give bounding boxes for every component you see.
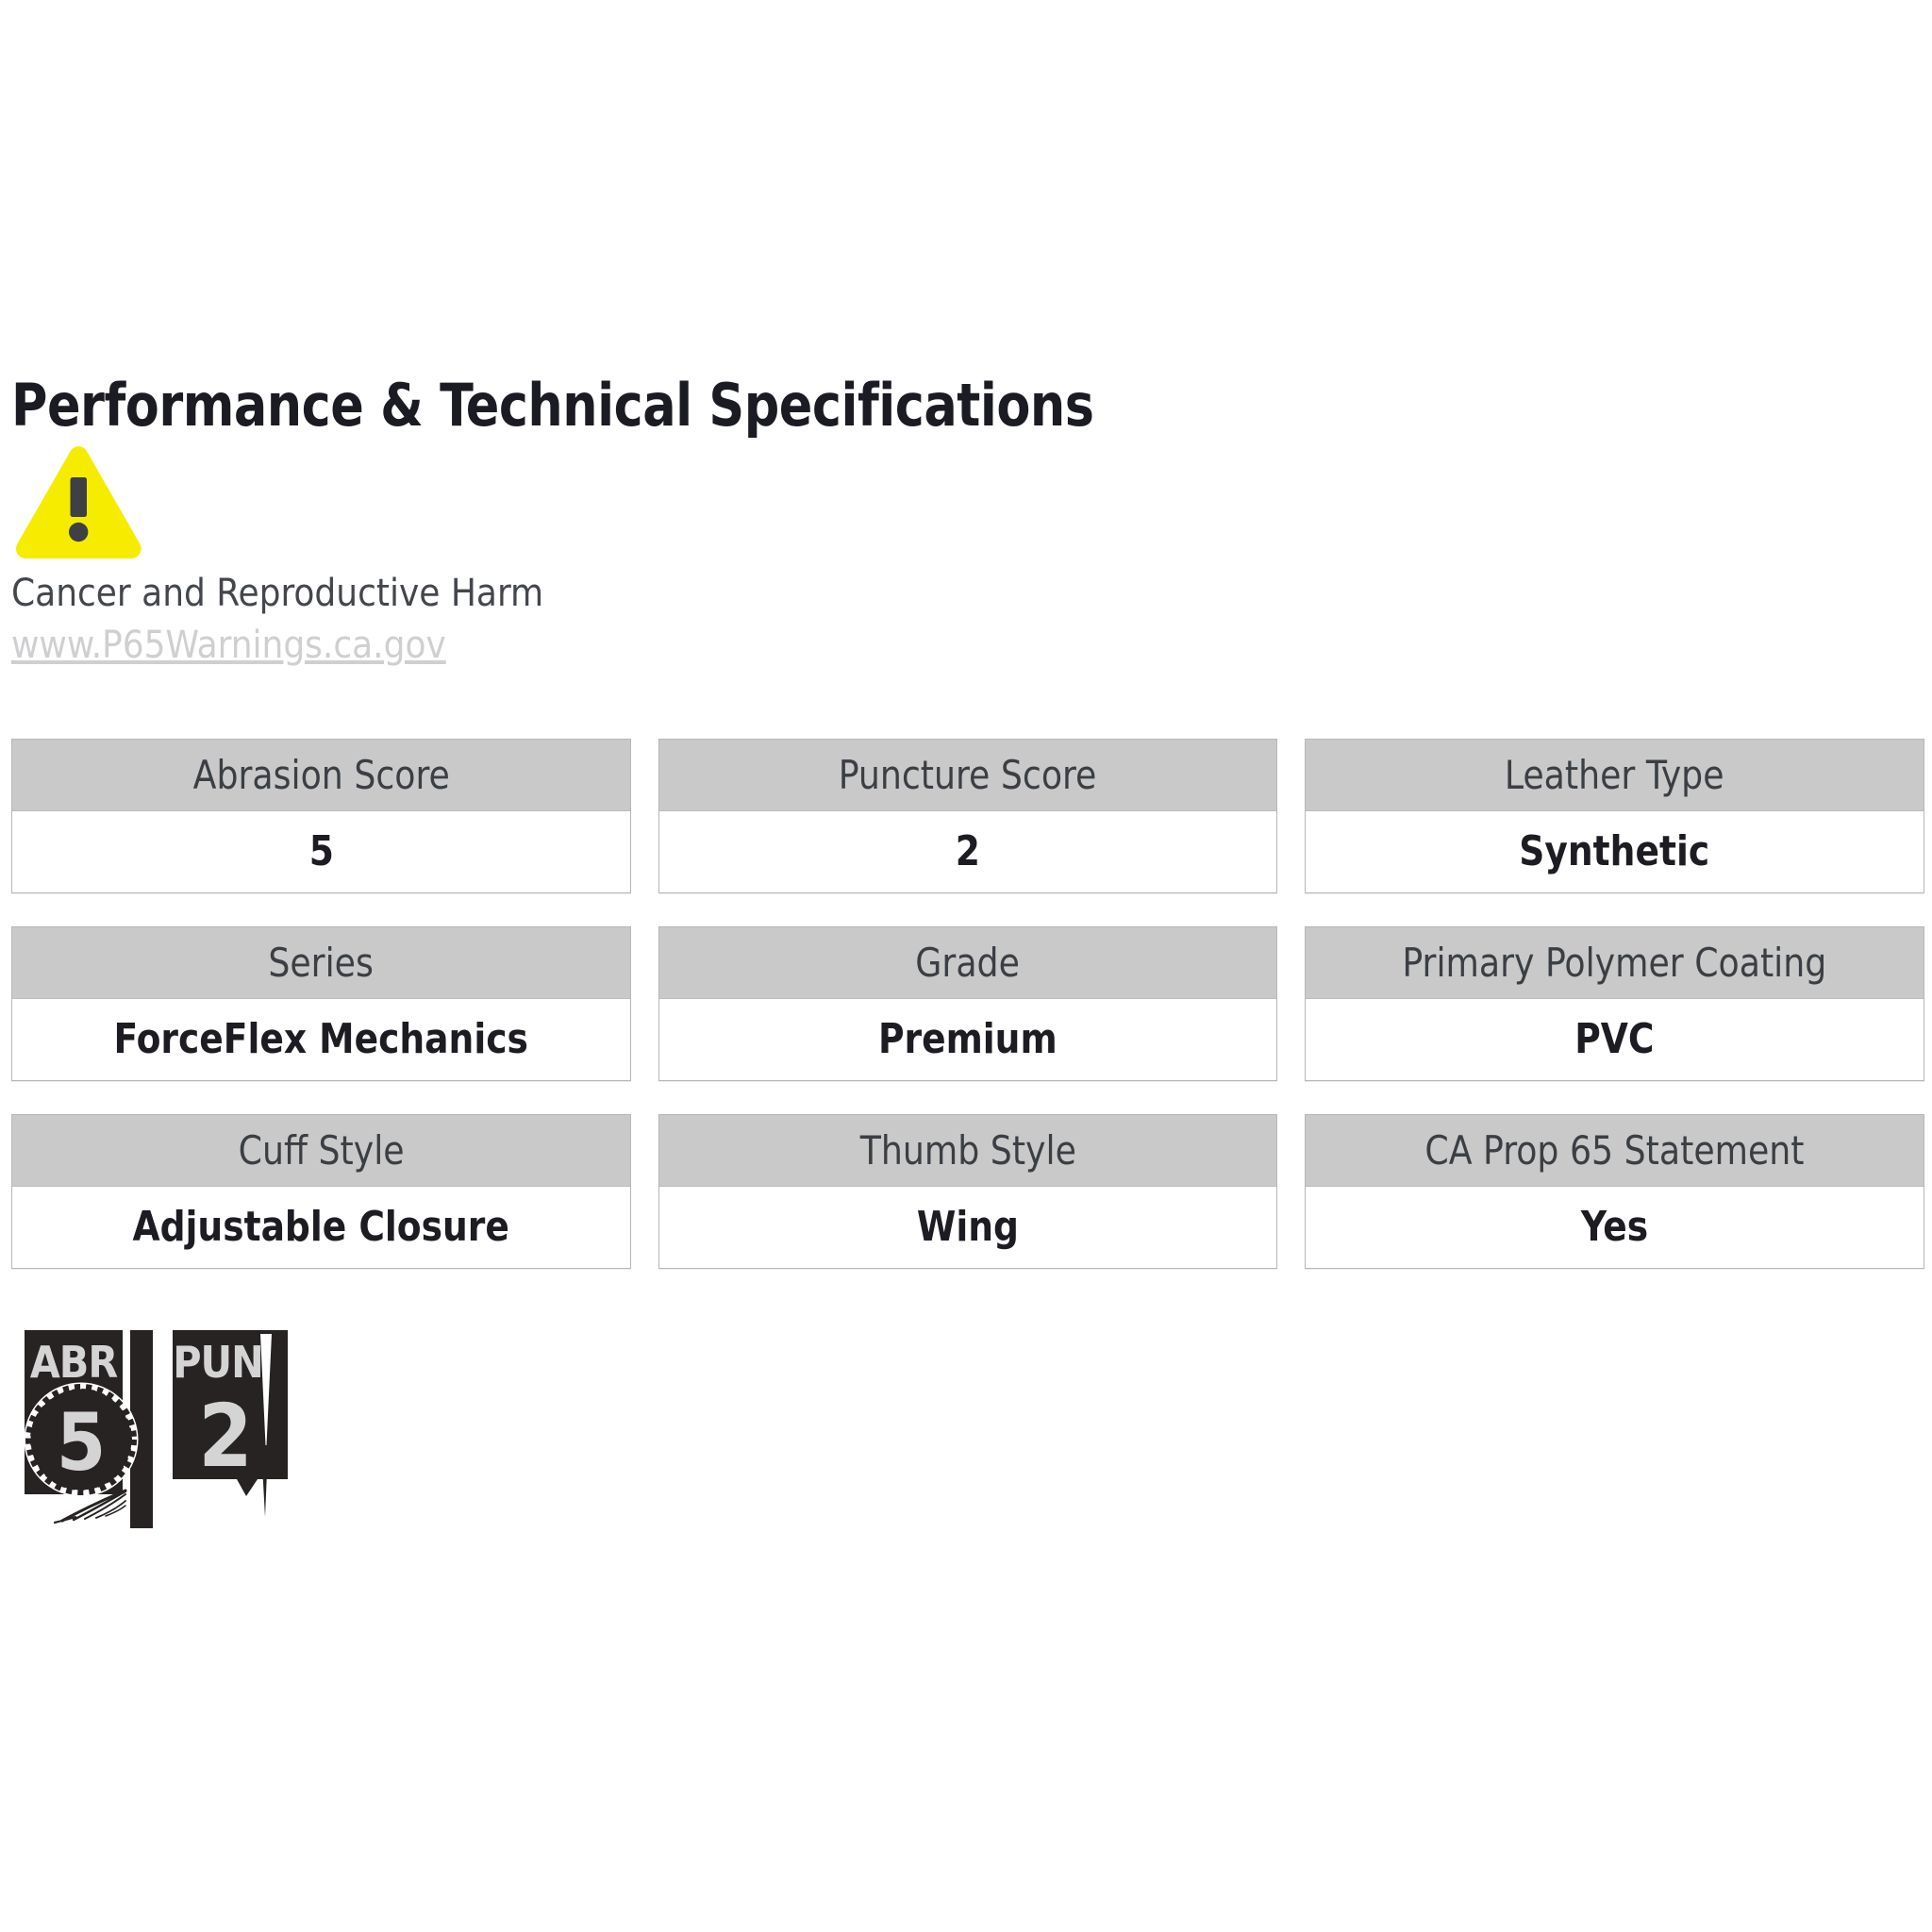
spec-card-value-text: 5: [308, 828, 333, 875]
spec-card-header: CA Prop 65 Statement: [1306, 1115, 1924, 1187]
spec-card-header: Series: [12, 927, 630, 999]
spec-card-value-text: 2: [956, 828, 980, 875]
spec-card-label: Series: [269, 941, 375, 986]
spec-card-value: 5: [12, 811, 630, 892]
prop65-warning-text: Cancer and Reproductive Harm: [11, 570, 860, 617]
spec-card: SeriesForceFlex Mechanics: [11, 926, 631, 1081]
spec-card-label: Primary Polymer Coating: [1403, 941, 1827, 986]
svg-text:2: 2: [198, 1386, 253, 1487]
spec-card-label: Puncture Score: [839, 753, 1097, 798]
spec-card-value: 2: [659, 811, 1277, 892]
spec-card-value: Wing: [659, 1187, 1277, 1268]
spec-card: Thumb StyleWing: [658, 1114, 1278, 1269]
spec-card-value-text: Wing: [917, 1204, 1019, 1251]
prop65-warnings-link[interactable]: www.P65Warnings.ca.gov: [11, 621, 446, 670]
prop65-warning-block: Cancer and Reproductive Harm www.P65Warn…: [11, 445, 860, 670]
spec-card-value: Synthetic: [1306, 811, 1924, 892]
specifications-grid: Abrasion Score5Puncture Score2Leather Ty…: [11, 739, 1924, 1269]
spec-card-value-text: Premium: [878, 1016, 1058, 1063]
page-title: Performance & Technical Specifications: [11, 372, 1094, 440]
spec-card: Primary Polymer CoatingPVC: [1305, 926, 1924, 1081]
spec-card-value: PVC: [1306, 999, 1924, 1080]
spec-card-value: Yes: [1306, 1187, 1924, 1268]
spec-card-value: ForceFlex Mechanics: [12, 999, 630, 1080]
spec-card: Abrasion Score5: [11, 739, 631, 893]
spec-card-header: Puncture Score: [659, 740, 1277, 811]
spec-card-value-text: Synthetic: [1520, 828, 1710, 875]
spec-card-header: Primary Polymer Coating: [1306, 927, 1924, 999]
spec-card-value: Premium: [659, 999, 1277, 1080]
rating-badges-group: ABR 5 P: [21, 1328, 298, 1531]
spec-card-header: Cuff Style: [12, 1115, 630, 1187]
spec-card: Puncture Score2: [658, 739, 1278, 893]
spec-card-value-text: PVC: [1575, 1016, 1655, 1063]
spec-card-header: Thumb Style: [659, 1115, 1277, 1187]
warning-triangle-icon: [11, 445, 143, 560]
spec-card-value-text: ForceFlex Mechanics: [114, 1016, 528, 1063]
spec-card: GradePremium: [658, 926, 1278, 1081]
puncture-rating-badge-icon: PUN 2: [171, 1328, 298, 1526]
spec-card-label: CA Prop 65 Statement: [1425, 1128, 1805, 1174]
spec-card-header: Grade: [659, 927, 1277, 999]
spec-card-label: Abrasion Score: [192, 753, 449, 798]
abrasion-rating-badge-icon: ABR 5: [21, 1328, 158, 1531]
spec-card-header: Leather Type: [1306, 740, 1924, 811]
specifications-page: Performance & Technical Specifications C…: [0, 0, 1932, 1932]
spec-card: Cuff StyleAdjustable Closure: [11, 1114, 631, 1269]
spec-card-value: Adjustable Closure: [12, 1187, 630, 1268]
spec-card-value-text: Adjustable Closure: [133, 1204, 509, 1251]
spec-card-label: Leather Type: [1505, 753, 1724, 798]
svg-text:ABR: ABR: [30, 1337, 119, 1388]
spec-card-header: Abrasion Score: [12, 740, 630, 811]
svg-text:PUN: PUN: [173, 1337, 263, 1388]
spec-card-label: Grade: [916, 941, 1021, 986]
svg-text:5: 5: [57, 1396, 107, 1489]
spec-card-value-text: Yes: [1581, 1204, 1648, 1251]
spec-card-label: Thumb Style: [859, 1128, 1075, 1174]
spec-card: Leather TypeSynthetic: [1305, 739, 1924, 893]
spec-card-label: Cuff Style: [238, 1128, 404, 1174]
spec-card: CA Prop 65 StatementYes: [1305, 1114, 1924, 1269]
